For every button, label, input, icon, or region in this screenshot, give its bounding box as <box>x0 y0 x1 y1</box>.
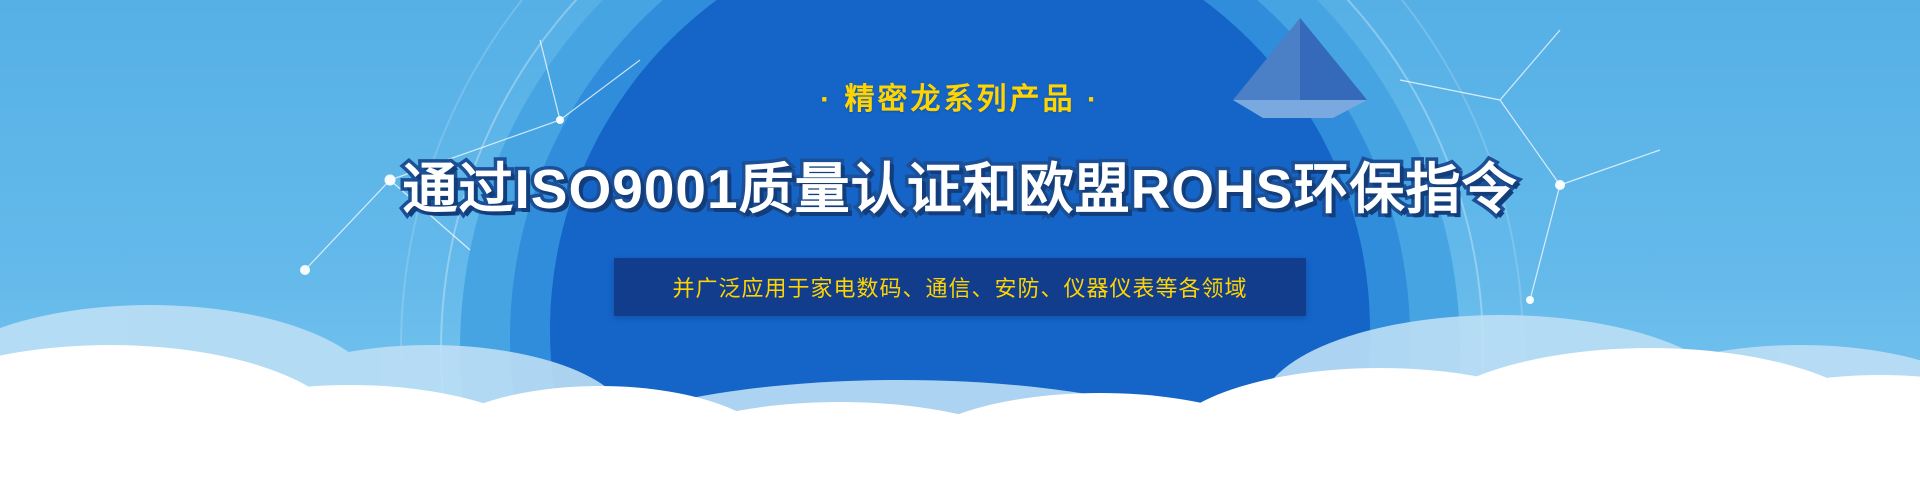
banner-subtitle-bar: 并广泛应用于家电数码、通信、安防、仪器仪表等各领域 <box>614 258 1305 316</box>
banner-content: · 精密龙系列产品 · 通过ISO9001质量认证和欧盟ROHS环保指令 并广泛… <box>0 0 1920 480</box>
banner-headline: 通过ISO9001质量认证和欧盟ROHS环保指令 <box>402 144 1517 224</box>
banner-subtitle-text: 并广泛应用于家电数码、通信、安防、仪器仪表等各领域 <box>672 271 1247 303</box>
promotional-banner: · 精密龙系列产品 · 通过ISO9001质量认证和欧盟ROHS环保指令 并广泛… <box>0 0 1920 480</box>
banner-eyebrow: · 精密龙系列产品 · <box>820 74 1100 118</box>
